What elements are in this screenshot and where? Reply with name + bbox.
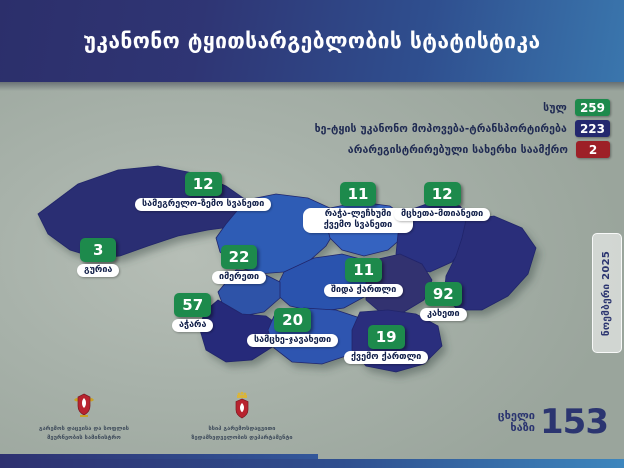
marker-label-samegrelo: სამეგრელო-ზემო სვანეთი xyxy=(135,198,271,211)
marker-value-guria: 3 xyxy=(80,238,116,262)
footer-logos: გარემოს დაცვისა და სოფლის მეურნეობის სამ… xyxy=(24,391,302,442)
marker-guria[interactable]: 3 გურია xyxy=(77,238,119,277)
department-emblem-icon xyxy=(229,391,255,421)
marker-shidakartli[interactable]: 11 შიდა ქართლი xyxy=(324,258,403,297)
marker-label-guria: გურია xyxy=(77,264,119,277)
logo-ministry-text: გარემოს დაცვისა და სოფლის მეურნეობის სამ… xyxy=(39,425,129,442)
legend-label-timber: ხე-ტყის უკანონო მოპოვება-ტრანსპორტირება xyxy=(315,123,567,135)
marker-value-adjara: 57 xyxy=(174,293,211,317)
marker-samtskhe[interactable]: 20 სამცხე-ჯავახეთი xyxy=(247,308,338,347)
marker-value-samegrelo: 12 xyxy=(185,172,222,196)
marker-value-racha: 11 xyxy=(340,182,377,206)
hotline-number: 153 xyxy=(540,407,608,438)
georgia-map: 12 სამეგრელო-ზემო სვანეთი 11 რაჭა-ლეჩხუმ… xyxy=(8,150,568,400)
ministry-emblem-icon xyxy=(71,391,97,421)
legend-row-total: სულ 259 xyxy=(180,99,610,116)
marker-imereti[interactable]: 22 იმერეთი xyxy=(212,245,266,284)
marker-label-mtskheta: მცხეთა-მთიანეთი xyxy=(394,208,490,221)
marker-kakheti[interactable]: 92 კახეთი xyxy=(420,282,467,321)
logo-ministry-line2: მეურნეობის სამინისტრო xyxy=(39,434,129,442)
marker-label-adjara: აჭარა xyxy=(172,319,213,332)
marker-value-mtskheta: 12 xyxy=(424,182,461,206)
logo-department-line2: ზედამხედველობის დეპარტამენტი xyxy=(191,434,292,442)
marker-label-imereti: იმერეთი xyxy=(212,271,266,284)
legend-value-sawmill: 2 xyxy=(576,141,610,158)
marker-value-kakheti: 92 xyxy=(425,282,462,306)
marker-kvemokartli[interactable]: 19 ქვემო ქართლი xyxy=(344,325,428,364)
legend-label-total: სულ xyxy=(543,102,567,114)
header-shadow xyxy=(0,82,624,91)
logo-ministry-line1: გარემოს დაცვისა და სოფლის xyxy=(39,425,129,433)
marker-mtskheta[interactable]: 12 მცხეთა-მთიანეთი xyxy=(394,182,490,221)
hotline-word-line: ხაზი xyxy=(498,422,535,434)
page-title: უკანონო ტყითსარგებლობის სტატისტიკა xyxy=(67,29,556,53)
logo-department-text: სსიპ გარემოსდაცვითი ზედამხედველობის დეპა… xyxy=(191,425,292,442)
marker-value-kvemokartli: 19 xyxy=(368,325,405,349)
date-tab: ნოემბერი 2025 xyxy=(592,233,622,353)
legend-row-timber: ხე-ტყის უკანონო მოპოვება-ტრანსპორტირება … xyxy=(180,120,610,137)
hotline: ცხელი ხაზი 153 xyxy=(498,407,608,438)
marker-label-kakheti: კახეთი xyxy=(420,308,467,321)
marker-samegrelo[interactable]: 12 სამეგრელო-ზემო სვანეთი xyxy=(135,172,271,211)
marker-value-samtskhe: 20 xyxy=(274,308,311,332)
legend-value-total: 259 xyxy=(575,99,610,116)
logo-department: სსიპ გარემოსდაცვითი ზედამხედველობის დეპა… xyxy=(182,391,302,442)
marker-label-shidakartli: შიდა ქართლი xyxy=(324,284,403,297)
bottom-bar xyxy=(0,459,624,468)
marker-value-imereti: 22 xyxy=(221,245,258,269)
marker-value-shidakartli: 11 xyxy=(345,258,382,282)
date-label: ნოემბერი 2025 xyxy=(602,250,613,335)
legend-value-timber: 223 xyxy=(575,120,610,137)
infographic-poster: უკანონო ტყითსარგებლობის სტატისტიკა სულ 2… xyxy=(0,0,624,468)
logo-department-line1: სსიპ გარემოსდაცვითი xyxy=(191,425,292,433)
marker-adjara[interactable]: 57 აჭარა xyxy=(172,293,213,332)
marker-label-kvemokartli: ქვემო ქართლი xyxy=(344,351,428,364)
logo-ministry: გარემოს დაცვისა და სოფლის მეურნეობის სამ… xyxy=(24,391,144,442)
hotline-words: ცხელი ხაზი xyxy=(498,410,535,434)
marker-label-samtskhe: სამცხე-ჯავახეთი xyxy=(247,334,338,347)
header-banner: უკანონო ტყითსარგებლობის სტატისტიკა xyxy=(0,0,624,82)
